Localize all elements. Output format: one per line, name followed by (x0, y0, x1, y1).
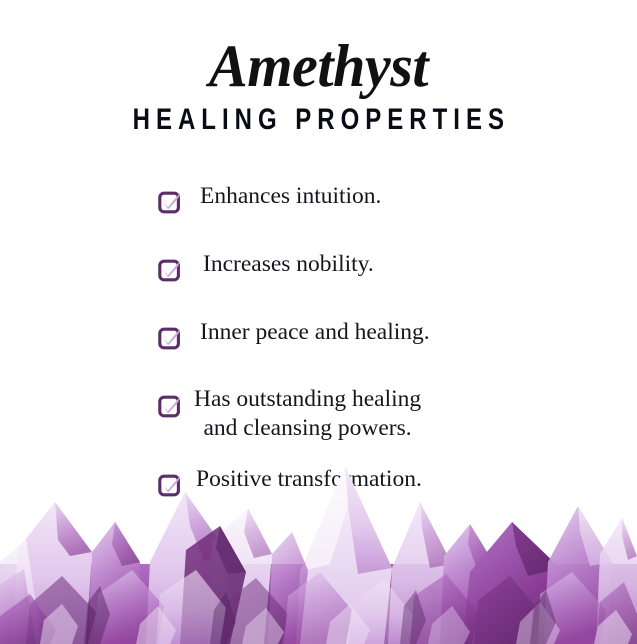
amethyst-healing-properties-poster: Amethyst HEALING PROPERTIES Enhances int… (0, 0, 637, 644)
list-item: Inner peace and healing. (0, 317, 637, 350)
list-item: Increases nobility. (0, 249, 637, 282)
amethyst-crystal-cluster-image (0, 444, 637, 644)
page-title: Amethyst (10, 34, 628, 98)
checked-checkbox-icon (158, 258, 182, 282)
checked-checkbox-icon (158, 190, 182, 214)
checked-checkbox-icon (158, 326, 182, 350)
list-item-label: Enhances intuition. (200, 181, 381, 211)
list-item-label: Increases nobility. (203, 249, 374, 279)
list-item: Enhances intuition. (0, 181, 637, 214)
page-subtitle: HEALING PROPERTIES (64, 104, 574, 136)
header: Amethyst HEALING PROPERTIES (0, 0, 637, 136)
list-item: Has outstanding healing and cleansing po… (0, 385, 637, 443)
list-item-label: Inner peace and healing. (200, 317, 430, 347)
list-item-label: Has outstanding healing and cleansing po… (194, 385, 421, 443)
checked-checkbox-icon (158, 394, 182, 418)
